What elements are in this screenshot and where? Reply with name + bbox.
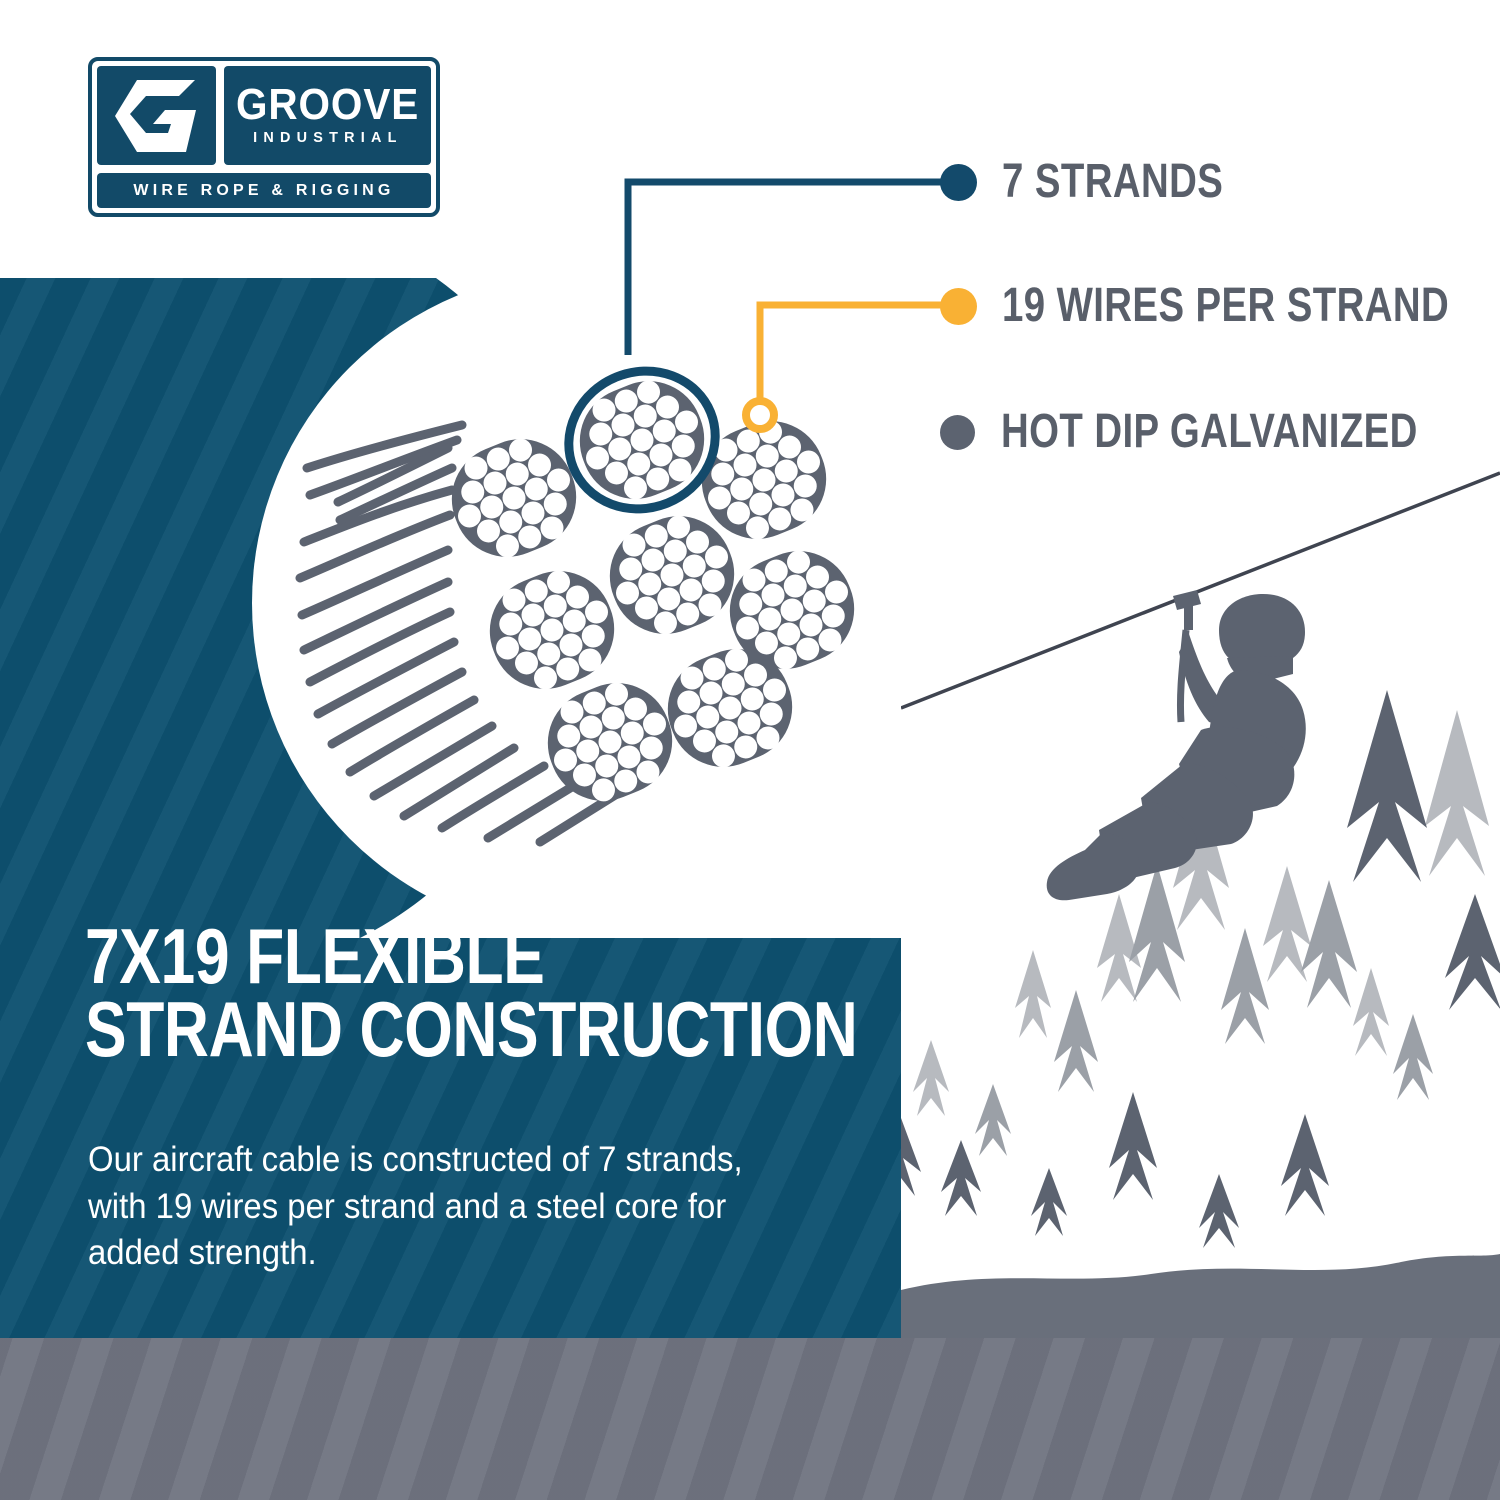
page-title: 7X19 FLEXIBLE STRAND CONSTRUCTION	[85, 920, 875, 1065]
logo-brand-name: GROOVE	[236, 85, 419, 125]
callout-strands[interactable]: 7 STRANDS	[940, 158, 1279, 206]
logo-brand-sub: INDUSTRIAL	[253, 129, 403, 146]
wire-rope-cross-section	[252, 290, 901, 890]
callout-dot-orange-icon	[940, 288, 977, 325]
infographic-canvas: GROOVE INDUSTRIAL WIRE ROPE & RIGGING	[0, 0, 1500, 1500]
callout-label-galvanized: HOT DIP GALVANIZED	[1001, 408, 1418, 456]
brand-logo: GROOVE INDUSTRIAL WIRE ROPE & RIGGING	[88, 57, 440, 217]
headline-line-1: 7X19 FLEXIBLE	[85, 920, 717, 993]
logo-tagline: WIRE ROPE & RIGGING	[133, 182, 394, 200]
logo-tagline-panel: WIRE ROPE & RIGGING	[97, 173, 431, 208]
callout-label-wires: 19 WIRES PER STRAND	[1002, 282, 1449, 330]
headline-line-2: STRAND CONSTRUCTION	[85, 993, 717, 1066]
callout-dot-slate-icon	[940, 415, 975, 450]
logo-mark-panel	[97, 66, 216, 165]
bottom-bar-stripe-texture	[0, 1338, 1500, 1500]
logo-top-row: GROOVE INDUSTRIAL	[97, 66, 431, 165]
callout-dot-navy-icon	[940, 164, 977, 201]
logo-wordmark-panel: GROOVE INDUSTRIAL	[224, 66, 431, 165]
body-copy: Our aircraft cable is constructed of 7 s…	[88, 1137, 746, 1277]
groove-g-icon	[113, 80, 201, 152]
bottom-gray-bar	[0, 1338, 1500, 1500]
callout-wires-per-strand[interactable]: 19 WIRES PER STRAND	[940, 282, 1500, 330]
callout-galvanized[interactable]: HOT DIP GALVANIZED	[940, 408, 1500, 456]
callout-label-strands: 7 STRANDS	[1002, 158, 1223, 206]
